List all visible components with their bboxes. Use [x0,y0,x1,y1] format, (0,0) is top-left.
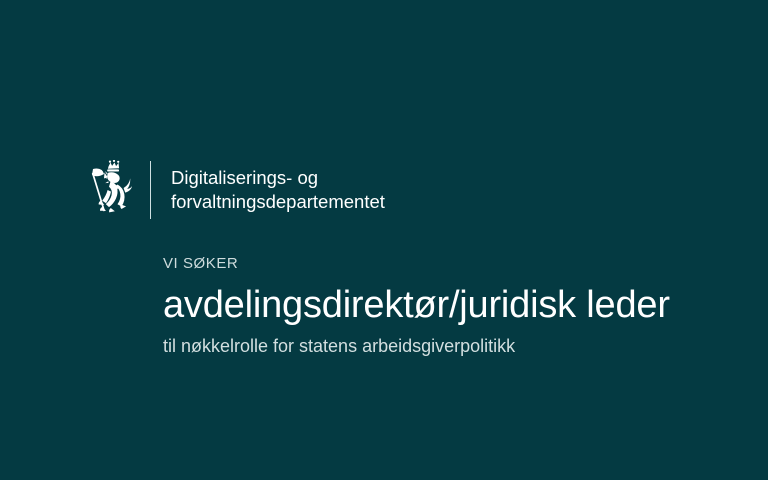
ministry-logo-lockup: Digitaliserings- og forvaltningsdepartem… [88,160,385,220]
organisation-name: Digitaliserings- og forvaltningsdepartem… [171,166,385,213]
organisation-name-line-2: forvaltningsdepartementet [171,190,385,214]
job-ad-copy: VI SØKER avdelingsdirektør/juridisk lede… [163,256,670,358]
logo-divider [150,161,151,219]
norwegian-lion-coat-of-arms-icon [88,160,132,220]
job-title-heading: avdelingsdirektør/juridisk leder [163,285,670,325]
job-subtitle: til nøkkelrolle for statens arbeidsgiver… [163,335,670,358]
eyebrow-label: VI SØKER [163,256,670,271]
organisation-name-line-1: Digitaliserings- og [171,166,385,190]
job-ad-poster: Digitaliserings- og forvaltningsdepartem… [0,0,768,480]
decorative-dot-pattern [408,0,768,215]
